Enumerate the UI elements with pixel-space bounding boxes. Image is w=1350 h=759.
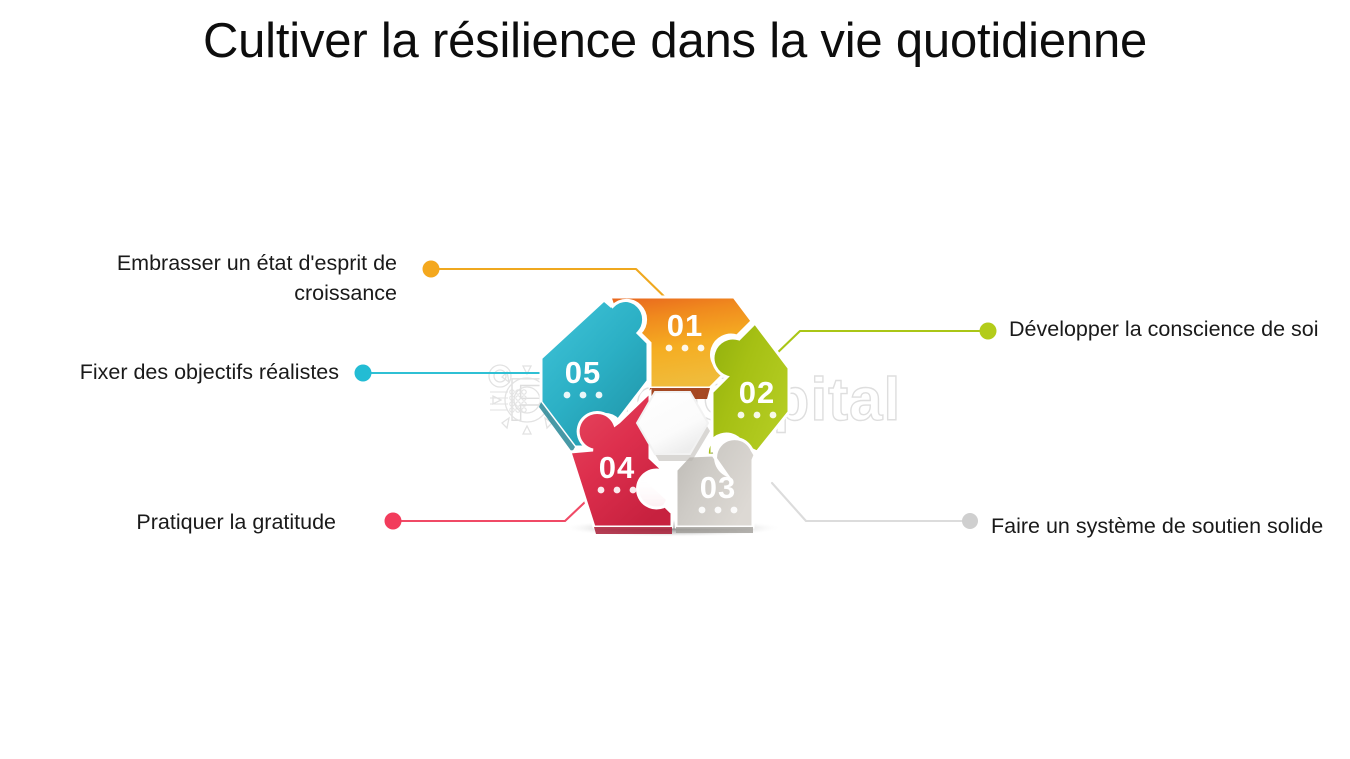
puzzle-piece-02-dots <box>738 412 777 419</box>
connector-line-03 <box>772 483 970 521</box>
puzzle-piece-04-number: 04 <box>599 450 635 485</box>
puzzle-piece-05-dots <box>564 392 603 399</box>
connector-dot-05 <box>355 365 372 382</box>
puzzle-piece-04-edge <box>594 527 672 534</box>
connector-line-04 <box>393 486 602 521</box>
callout-label-support-system: Faire un système de soutien solide <box>991 511 1341 541</box>
callout-label-realistic-goals: Fixer des objectifs réalistes <box>6 357 339 387</box>
connector-dot-03 <box>962 513 978 529</box>
callout-label-gratitude: Pratiquer la gratitude <box>6 507 336 537</box>
callout-label-self-awareness: Développer la conscience de soi <box>1009 314 1339 344</box>
puzzle-piece-03-edge <box>676 527 753 533</box>
puzzle-piece-05-number: 05 <box>565 355 601 390</box>
connector-dot-02 <box>980 323 997 340</box>
puzzle-piece-03-number: 03 <box>700 470 736 505</box>
puzzle-piece-01-dots <box>666 345 705 352</box>
connector-line-02 <box>773 331 988 357</box>
connector-dot-01 <box>423 261 440 278</box>
callout-label-growth-mindset: Embrasser un état d'esprit de croissance <box>42 248 397 308</box>
puzzle-piece-03-dots <box>699 507 738 514</box>
puzzle-piece-01-number: 01 <box>667 308 703 343</box>
puzzle-piece-02-number: 02 <box>739 375 775 410</box>
connector-dot-04 <box>385 513 402 530</box>
puzzle-piece-04-dots <box>598 487 637 494</box>
